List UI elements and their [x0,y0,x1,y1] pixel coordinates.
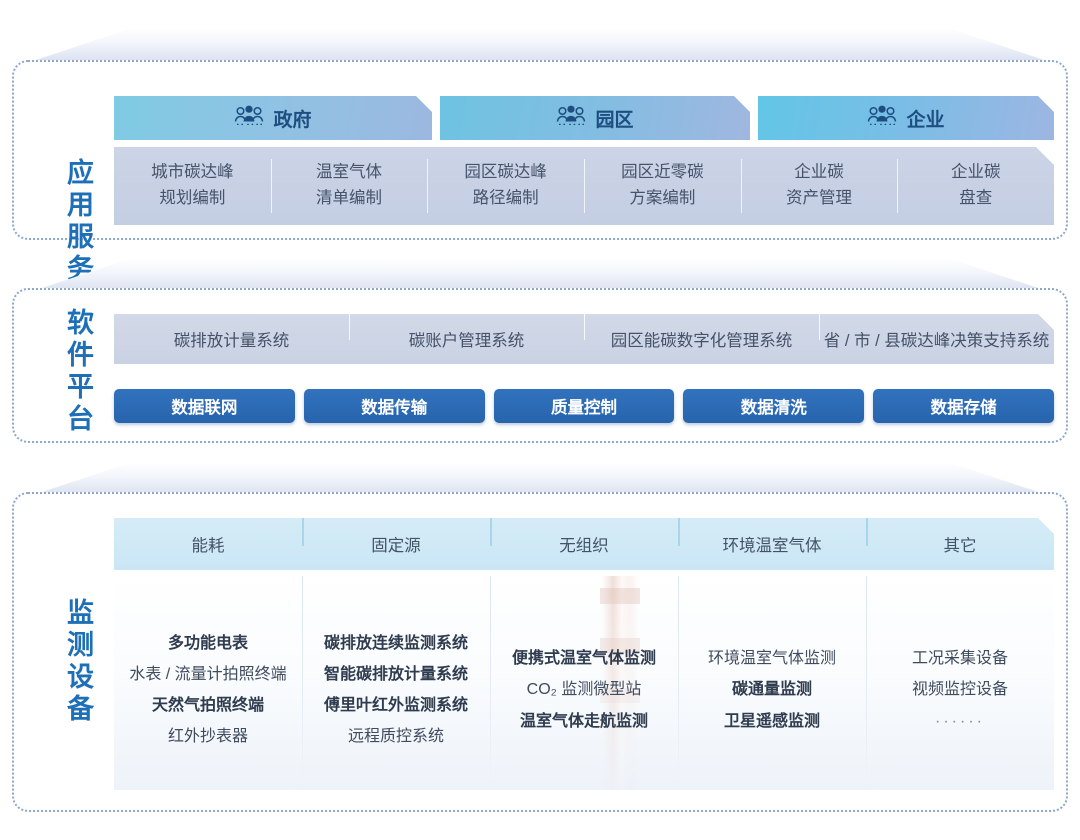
monitoring-header-stationary-source[interactable]: 固定源 [302,532,490,556]
section-label-monitoring-devices: 监测设备 [44,598,92,726]
button-data-cleaning[interactable]: 数据清洗 [683,389,864,423]
software-system-provincial-carbon-peak-decision[interactable]: 省 / 市 / 县碳达峰决策支持系统 [819,327,1054,351]
cell-line-1: 温室气体 [316,160,382,186]
monitoring-item[interactable]: CO₂ 监测微型站 [527,674,642,705]
software-system-row: 碳排放计量系统 碳账户管理系统 园区能碳数字化管理系统 省 / 市 / 县碳达峰… [114,314,1054,364]
monitoring-item[interactable]: 水表 / 流量计拍照终端 [129,659,286,690]
monitoring-column-ambient-greenhouse-gas: 环境温室气体监测 碳通量监测 卫星遥感监测 [678,576,866,790]
app-cell-city-carbon-peak-planning[interactable]: 城市碳达峰 规划编制 [114,147,271,225]
monitoring-item[interactable]: 视频监控设备 [912,674,1008,705]
monitoring-devices-grid: 能耗 固定源 无组织 环境温室气体 其它 [114,518,1054,790]
platform-slab-application [30,28,1050,62]
banner-label: 政府 [273,105,311,132]
button-data-transmission[interactable]: 数据传输 [304,389,485,423]
monitoring-item[interactable]: 工况采集设备 [912,643,1008,674]
monitoring-column-stationary-source: 碳排放连续监测系统 智能碳排放计量系统 傅里叶红外监测系统 远程质控系统 [302,576,490,790]
monitoring-item[interactable]: 碳排放连续监测系统 [324,628,468,659]
cell-line-1: 城市碳达峰 [151,160,234,186]
application-banner-row: 政府 园区 [114,96,1054,140]
section-application-services: 应用服务 政府 [12,60,1068,240]
app-cell-park-carbon-peak-path[interactable]: 园区碳达峰 路径编制 [427,147,584,225]
banner-government[interactable]: 政府 [114,96,432,140]
diagram-canvas: 应用服务 政府 [0,0,1080,840]
monitoring-body: 多功能电表 水表 / 流量计拍照终端 天然气拍照终端 红外抄表器 碳排放连续监测… [114,576,1054,790]
cell-line-2: 盘查 [959,186,992,212]
people-group-icon [867,105,897,132]
monitoring-item[interactable]: 智能碳排放计量系统 [324,659,468,690]
monitoring-item[interactable]: 傅里叶红外监测系统 [324,690,468,721]
section-monitoring-devices: 监测设备 能耗 固定源 无组织 环境温室气体 其它 [12,492,1068,812]
button-quality-control[interactable]: 质量控制 [494,389,675,423]
cell-line-1: 园区近零碳 [621,160,704,186]
software-platform-grid: 碳排放计量系统 碳账户管理系统 园区能碳数字化管理系统 省 / 市 / 县碳达峰… [114,314,1054,423]
section-label-software-platform: 软件平台 [44,308,92,436]
monitoring-item[interactable]: 远程质控系统 [348,721,444,752]
banner-label: 园区 [595,105,633,132]
section-software-platform: 软件平台 碳排放计量系统 碳账户管理系统 园区能碳数字化管理系统 省 / 市 /… [12,288,1068,443]
cell-line-2: 规划编制 [159,186,225,212]
cell-line-1: 园区碳达峰 [464,160,547,186]
button-data-storage[interactable]: 数据存储 [873,389,1054,423]
section-label-application-services: 应用服务 [44,158,92,286]
banner-park[interactable]: 园区 [440,96,750,140]
monitoring-item[interactable]: 红外抄表器 [168,721,248,752]
monitoring-column-fugitive: 便携式温室气体监测 CO₂ 监测微型站 温室气体走航监测 [490,576,678,790]
banner-enterprise[interactable]: 企业 [758,96,1054,140]
software-system-carbon-account-management[interactable]: 碳账户管理系统 [349,327,584,351]
cell-line-2: 资产管理 [786,186,852,212]
monitoring-header-row: 能耗 固定源 无组织 环境温室气体 其它 [114,518,1054,570]
monitoring-header-other[interactable]: 其它 [866,532,1054,556]
monitoring-column-other: 工况采集设备 视频监控设备 ······ [866,576,1054,790]
monitoring-header-energy-consumption[interactable]: 能耗 [114,532,302,556]
people-group-icon [556,105,586,132]
monitoring-header-ambient-greenhouse-gas[interactable]: 环境温室气体 [678,532,866,556]
monitoring-item[interactable]: 环境温室气体监测 [708,643,836,674]
software-button-row: 数据联网 数据传输 质量控制 数据清洗 数据存储 [114,389,1054,423]
people-group-icon [234,105,264,132]
software-system-carbon-emission-metering[interactable]: 碳排放计量系统 [114,327,349,351]
monitoring-item-ellipsis: ······ [935,706,985,737]
cell-line-2: 路径编制 [473,186,539,212]
app-cell-park-near-zero-carbon-plan[interactable]: 园区近零碳 方案编制 [584,147,741,225]
monitoring-item[interactable]: 便携式温室气体监测 [512,643,656,674]
application-services-grid: 政府 园区 [114,96,1054,225]
monitoring-item[interactable]: 天然气拍照终端 [152,690,264,721]
app-cell-greenhouse-gas-inventory[interactable]: 温室气体 清单编制 [271,147,428,225]
platform-slab-software [30,258,1050,292]
button-data-networking[interactable]: 数据联网 [114,389,295,423]
app-cell-enterprise-carbon-asset-management[interactable]: 企业碳 资产管理 [741,147,898,225]
platform-slab-monitoring [30,462,1050,496]
monitoring-header-fugitive[interactable]: 无组织 [490,532,678,556]
banner-label: 企业 [906,105,944,132]
cell-line-2: 清单编制 [316,186,382,212]
app-cell-enterprise-carbon-audit[interactable]: 企业碳 盘查 [897,147,1054,225]
monitoring-item[interactable]: 卫星遥感监测 [724,706,820,737]
monitoring-item[interactable]: 碳通量监测 [732,674,812,705]
monitoring-item[interactable]: 温室气体走航监测 [520,706,648,737]
application-cell-row: 城市碳达峰 规划编制 温室气体 清单编制 园区碳达峰 路径编制 园区近零碳 方案… [114,147,1054,225]
cell-line-1: 企业碳 [951,160,1001,186]
cell-line-1: 企业碳 [794,160,844,186]
monitoring-item[interactable]: 多功能电表 [168,628,248,659]
monitoring-column-energy-consumption: 多功能电表 水表 / 流量计拍照终端 天然气拍照终端 红外抄表器 [114,576,302,790]
software-system-park-energy-carbon-digital[interactable]: 园区能碳数字化管理系统 [584,327,819,351]
cell-line-2: 方案编制 [629,186,695,212]
